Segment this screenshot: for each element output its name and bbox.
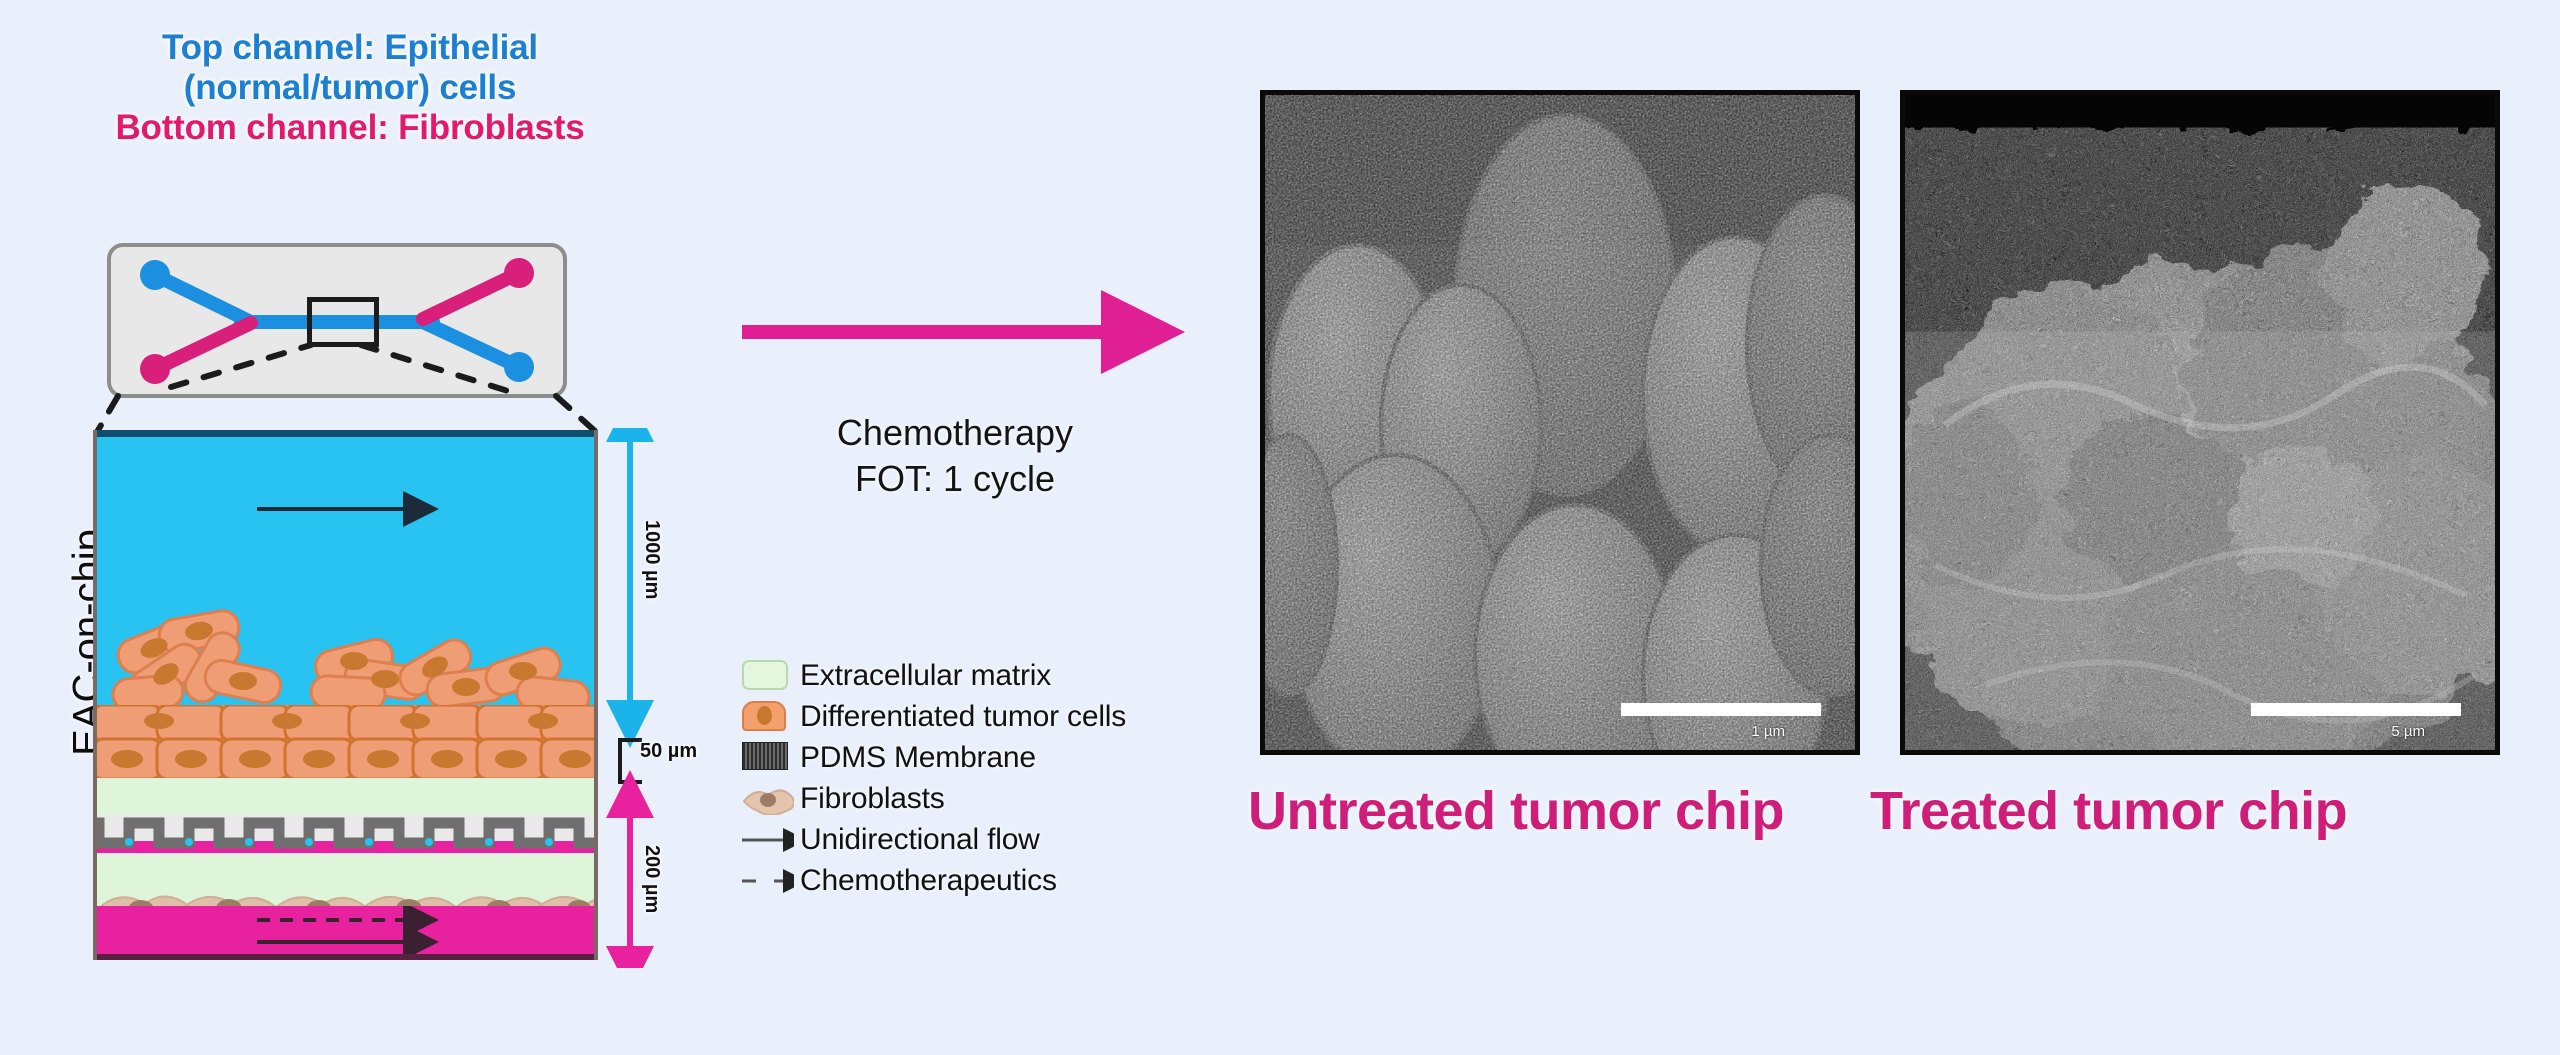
bottom-channel-lumen xyxy=(97,906,594,956)
legend-label-fibroblasts: Fibroblasts xyxy=(800,782,945,816)
legend-label-pdms: PDMS Membrane xyxy=(800,741,1036,775)
blue-channel-left-leg xyxy=(155,275,251,322)
fibroblast-glyph xyxy=(742,783,794,815)
legend-item-ecm: Extracellular matrix xyxy=(742,655,1242,696)
blue-outlet-port xyxy=(504,352,534,382)
untreated-scale-bar xyxy=(1621,703,1821,716)
treated-micrograph-wrap: 5 µm xyxy=(1900,90,2500,755)
dim-bracket-50um xyxy=(620,740,642,782)
process-and-legend-panel: Chemotherapy FOT: 1 cycle Extracellular … xyxy=(720,0,1240,1055)
pink-channel-left-leg xyxy=(155,323,251,369)
chemotherapy-arrow-svg xyxy=(730,290,1200,400)
legend-item-tumor-cells: Differentiated tumor cells xyxy=(742,696,1242,737)
treated-scale-bar xyxy=(2251,703,2461,716)
legend-item-fibroblasts: Fibroblasts xyxy=(742,778,1242,819)
extracellular-matrix-upper xyxy=(97,778,594,815)
pink-inlet-port xyxy=(140,354,170,384)
epithelial-monolayer xyxy=(97,705,594,778)
treated-sem-render xyxy=(1905,95,2495,750)
header-top-channel-line2: (normal/tumor) cells xyxy=(30,68,670,108)
dashed-arrow-icon xyxy=(742,865,794,897)
untreated-sem-render xyxy=(1265,95,1855,750)
solid-arrow-icon xyxy=(742,824,794,856)
piled-tumor-cells xyxy=(97,439,598,707)
pdms-swatch-icon xyxy=(742,742,794,774)
fibroblast-swatch-icon xyxy=(742,783,794,815)
dimension-label-1000um: 1000 µm xyxy=(640,520,663,599)
legend-item-chemotherapeutics: Chemotherapeutics xyxy=(742,860,1242,901)
untreated-micrograph-wrap: 1 µm xyxy=(1260,90,1860,755)
pdms-membrane xyxy=(97,815,594,855)
graphical-abstract: Top channel: Epithelial (normal/tumor) c… xyxy=(0,0,2560,1055)
bottom-channel-flow-svg xyxy=(97,906,598,956)
dimension-label-50um: 50 µm xyxy=(640,740,697,763)
channel-ceiling xyxy=(97,430,594,437)
legend-label-ecm: Extracellular matrix xyxy=(800,659,1051,693)
untreated-sem-image: 1 µm xyxy=(1260,90,1860,755)
header-top-channel-line1: Top channel: Epithelial xyxy=(30,28,670,68)
pink-outlet-port xyxy=(504,258,534,288)
device-cross-section xyxy=(93,430,598,960)
channel-floor xyxy=(97,954,594,960)
process-label-line1: Chemotherapy xyxy=(720,410,1190,456)
blue-channel-right-leg xyxy=(423,322,519,367)
header-bottom-channel: Bottom channel: Fibroblasts xyxy=(30,108,670,148)
tumor-cell-swatch-icon xyxy=(742,701,794,733)
device-schematic-panel: Top channel: Epithelial (normal/tumor) c… xyxy=(0,0,720,1055)
treated-sem-image: 5 µm xyxy=(1900,90,2500,755)
pink-channel-right-leg xyxy=(423,273,519,319)
ecm-swatch-icon xyxy=(742,660,794,692)
chip-top-view xyxy=(107,243,567,398)
process-label: Chemotherapy FOT: 1 cycle xyxy=(720,410,1190,502)
process-label-line2: FOT: 1 cycle xyxy=(720,456,1190,502)
pdms-membrane-svg xyxy=(97,815,598,855)
connector-right xyxy=(556,396,596,432)
untreated-caption: Untreated tumor chip xyxy=(1248,780,1784,842)
blue-inlet-port xyxy=(140,260,170,290)
legend-item-unidirectional-flow: Unidirectional flow xyxy=(742,819,1242,860)
legend-label-tumor-cells: Differentiated tumor cells xyxy=(800,700,1126,734)
micrograph-panel: 1 µm xyxy=(1240,0,2560,1055)
connector-left xyxy=(97,396,118,432)
dashed-arrow-glyph xyxy=(742,865,794,897)
legend: Extracellular matrix Differentiated tumo… xyxy=(742,655,1242,901)
legend-item-pdms: PDMS Membrane xyxy=(742,737,1242,778)
untreated-scale-bar-label: 1 µm xyxy=(1751,723,1785,740)
treated-caption: Treated tumor chip xyxy=(1870,780,2347,842)
solid-arrow-glyph xyxy=(742,824,794,856)
legend-label-chemotherapeutics: Chemotherapeutics xyxy=(800,864,1057,898)
treated-scale-bar-label: 5 µm xyxy=(2391,723,2425,740)
epithelium-cells-svg xyxy=(97,705,598,778)
dimension-label-200um: 200 µm xyxy=(640,845,663,913)
top-channel-lumen xyxy=(97,437,594,705)
legend-label-unidirectional-flow: Unidirectional flow xyxy=(800,823,1040,857)
imaging-region-box xyxy=(307,297,379,347)
